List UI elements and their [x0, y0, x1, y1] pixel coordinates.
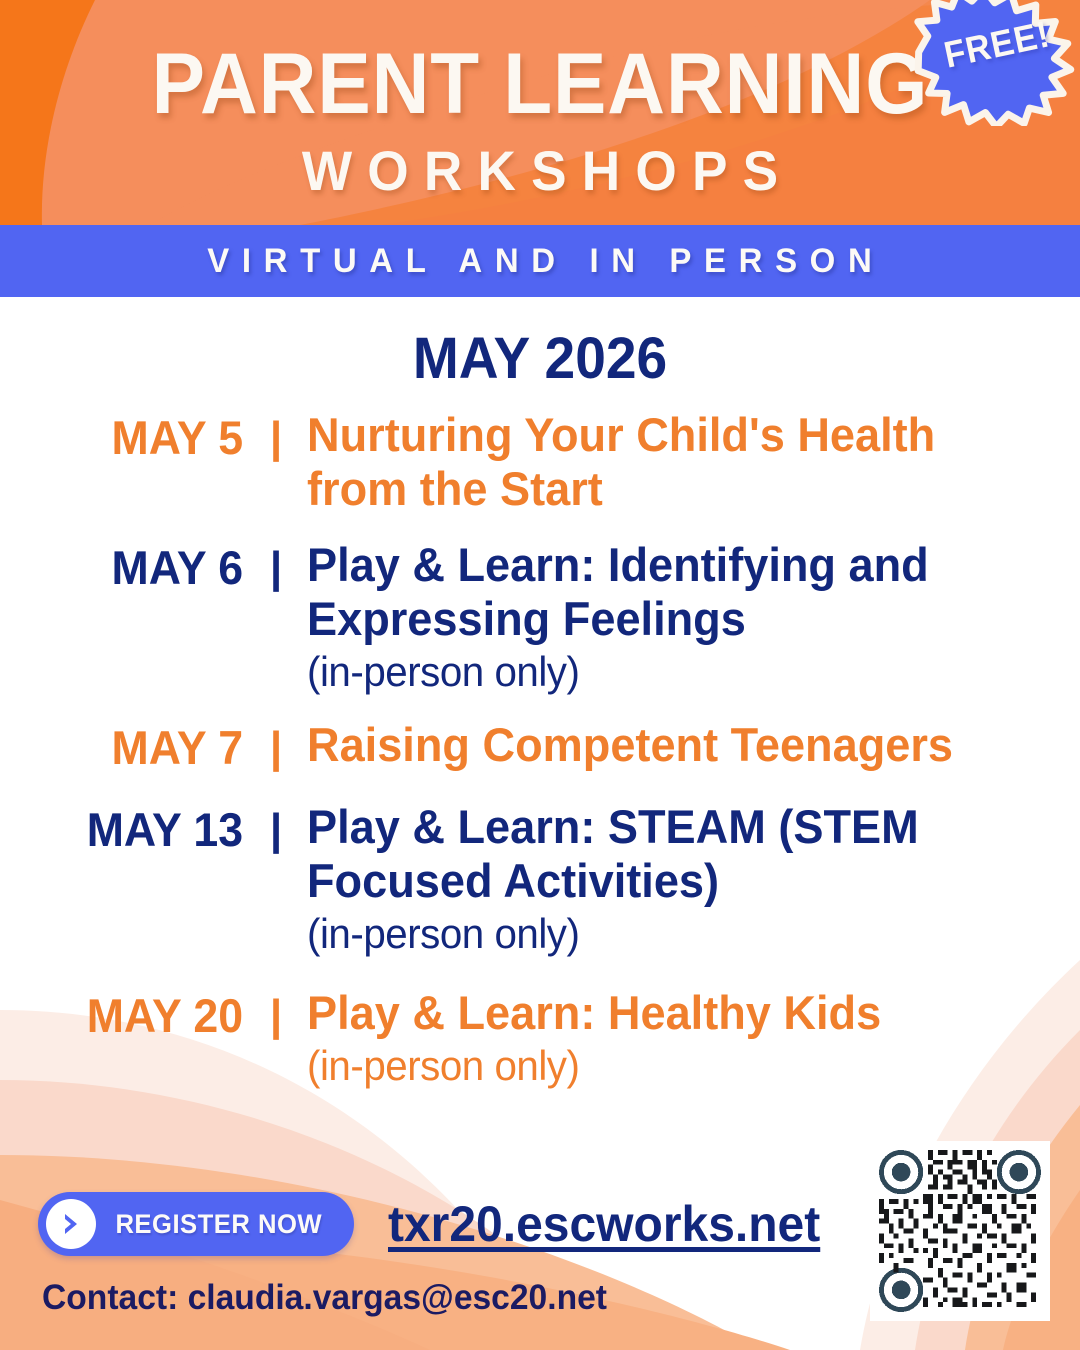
play-arrow-icon	[46, 1199, 96, 1249]
schedule-row-note: (in-person only)	[307, 908, 1011, 960]
page-title: PARENT LEARNING	[38, 38, 1042, 130]
workshop-schedule-list: MAY 5 | Nurturing Your Child's Health fr…	[0, 408, 1080, 1092]
schedule-row-title: Play & Learn: STEAM (STEM Focused Activi…	[307, 800, 1049, 960]
schedule-row-note: (in-person only)	[307, 646, 1011, 698]
schedule-row-separator: |	[245, 408, 307, 468]
schedule-row-date: MAY 6	[12, 538, 245, 598]
registration-row: REGISTER NOW txr20.escworks.net	[38, 1192, 838, 1256]
schedule-row-title: Nurturing Your Child's Health from the S…	[307, 408, 1049, 516]
schedule-row-date: MAY 20	[12, 986, 245, 1046]
schedule-row: MAY 20 | Play & Learn: Healthy Kids (in-…	[0, 986, 1080, 1092]
free-badge: FREE!	[898, 0, 1080, 126]
schedule-row-note: (in-person only)	[307, 1040, 1011, 1092]
schedule-row-separator: |	[245, 718, 307, 778]
schedule-row-separator: |	[245, 800, 307, 860]
schedule-row-date: MAY 13	[12, 800, 245, 860]
schedule-row: MAY 6 | Play & Learn: Identifying and Ex…	[0, 538, 1080, 698]
register-now-label: REGISTER NOW	[115, 1211, 322, 1238]
mode-banner-label: VIRTUAL AND IN PERSON	[195, 242, 885, 280]
page-subtitle: WORKSHOPS	[27, 140, 1053, 202]
schedule-row-title: Play & Learn: Identifying and Expressing…	[307, 538, 1049, 698]
contact-email-text: Contact: claudia.vargas@esc20.net	[42, 1278, 607, 1318]
schedule-row-title-text: Play & Learn: Identifying and Expressing…	[307, 538, 929, 645]
schedule-row: MAY 13 | Play & Learn: STEAM (STEM Focus…	[0, 800, 1080, 960]
schedule-row-title: Raising Competent Teenagers	[307, 718, 1049, 772]
poster-canvas: PARENT LEARNING WORKSHOPS FREE! VIRTUAL …	[0, 0, 1080, 1350]
mode-banner: VIRTUAL AND IN PERSON	[0, 225, 1080, 297]
month-heading: MAY 2026	[27, 327, 1053, 391]
schedule-row: MAY 7 | Raising Competent Teenagers	[0, 718, 1080, 778]
registration-url-link[interactable]: txr20.escworks.net	[388, 1197, 820, 1251]
schedule-row-date: MAY 5	[12, 408, 245, 468]
schedule-row-date: MAY 7	[12, 718, 245, 778]
schedule-row-title: Play & Learn: Healthy Kids (in-person on…	[307, 986, 1049, 1092]
schedule-row-title-text: Play & Learn: Healthy Kids	[307, 986, 881, 1039]
schedule-row-separator: |	[245, 986, 307, 1046]
register-now-button[interactable]: REGISTER NOW	[38, 1192, 354, 1256]
schedule-row: MAY 5 | Nurturing Your Child's Health fr…	[0, 408, 1080, 516]
qr-code-icon[interactable]	[870, 1141, 1050, 1321]
schedule-row-title-text: Play & Learn: STEAM (STEM Focused Activi…	[307, 800, 919, 907]
schedule-row-separator: |	[245, 538, 307, 598]
